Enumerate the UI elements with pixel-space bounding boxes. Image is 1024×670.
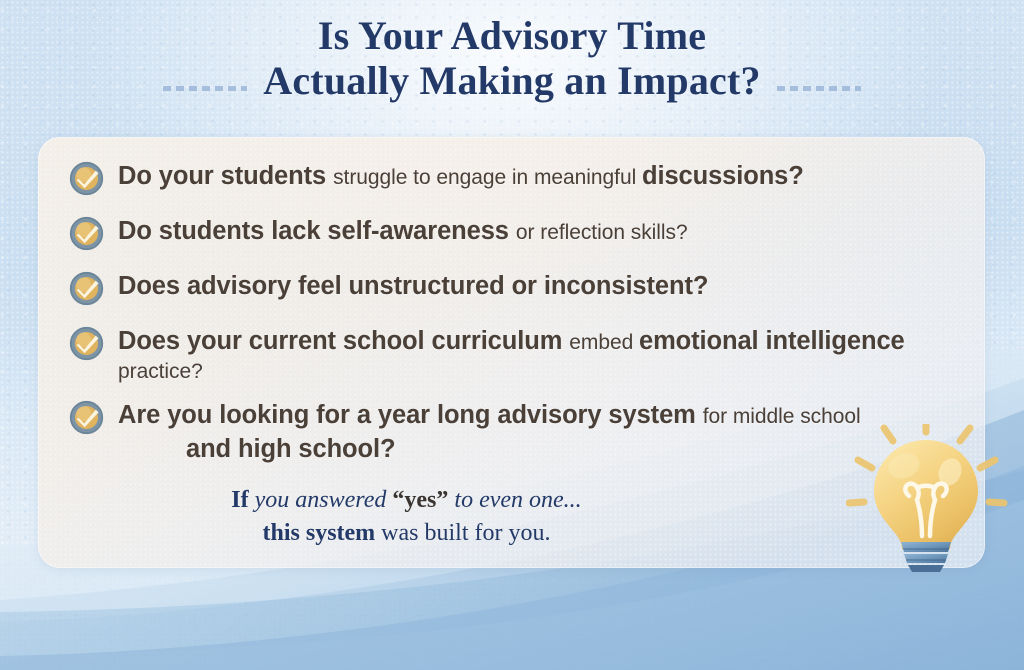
checklist-text-part: emotional intelligence	[639, 327, 905, 355]
checklist-item: Do your students struggle to engage in m…	[68, 159, 955, 197]
checklist-item: Does advisory feel unstructured or incon…	[68, 269, 955, 307]
checklist-text-part: practice?	[118, 360, 203, 383]
checklist-text-part: Does your current school curriculum	[118, 327, 569, 355]
checklist-text-part: for middle school	[703, 405, 861, 428]
check-circle-icon	[68, 399, 105, 436]
checklist-item-text: Do students lack self-awareness or refle…	[118, 214, 688, 248]
check-circle-icon	[68, 215, 105, 252]
checklist-item: Do students lack self-awareness or refle…	[68, 214, 955, 252]
closing-statement: If you answered “yes” to even one... thi…	[68, 484, 955, 550]
checklist-item-text: Do your students struggle to engage in m…	[118, 159, 804, 193]
closing-built: was built for you.	[381, 520, 550, 546]
closing-if: If	[231, 487, 254, 513]
closing-system: this system	[263, 520, 382, 546]
closing-ans: you answered	[255, 487, 393, 513]
closing-yes: “yes”	[392, 487, 448, 513]
slide-title: Is Your Advisory Time Actually Making an…	[0, 14, 1024, 104]
check-circle-icon	[68, 160, 105, 197]
title-line-1: Is Your Advisory Time	[0, 14, 1024, 59]
checklist-item: Are you looking for a year long advisory…	[68, 398, 955, 465]
checklist-text-part: Does advisory feel unstructured or incon…	[118, 272, 708, 300]
title-line-2: Actually Making an Impact?	[263, 59, 760, 104]
closing-line-2: this system was built for you.	[68, 517, 745, 550]
checklist-text-part: struggle to engage in meaningful	[333, 166, 642, 189]
slide-canvas: Is Your Advisory Time Actually Making an…	[0, 0, 1024, 670]
checklist-item-text: Does advisory feel unstructured or incon…	[118, 269, 708, 303]
check-circle-icon	[68, 325, 105, 362]
closing-even: to even one...	[448, 487, 581, 513]
checklist-text-part: and high school?	[118, 433, 861, 466]
content-card: Do your students struggle to engage in m…	[38, 137, 985, 568]
closing-line-1: If you answered “yes” to even one...	[68, 484, 745, 517]
dashed-rule-left	[163, 86, 247, 91]
check-circle-icon	[68, 270, 105, 307]
checklist-text-part: Are you looking for a year long advisory…	[118, 401, 703, 429]
checklist-item: Does your current school curriculum embe…	[68, 324, 955, 385]
checklist-text-part: discussions?	[642, 162, 804, 190]
checklist-text-part: or reflection skills?	[516, 221, 688, 244]
checklist-text-part: Do your students	[118, 162, 333, 190]
dashed-rule-right	[777, 86, 861, 91]
checklist-text-part: Do students lack self-awareness	[118, 217, 516, 245]
checklist-item-text: Does your current school curriculum embe…	[118, 324, 955, 385]
checklist-item-text: Are you looking for a year long advisory…	[118, 398, 861, 465]
checklist: Do your students struggle to engage in m…	[68, 159, 955, 466]
checklist-text-part: embed	[569, 331, 639, 354]
